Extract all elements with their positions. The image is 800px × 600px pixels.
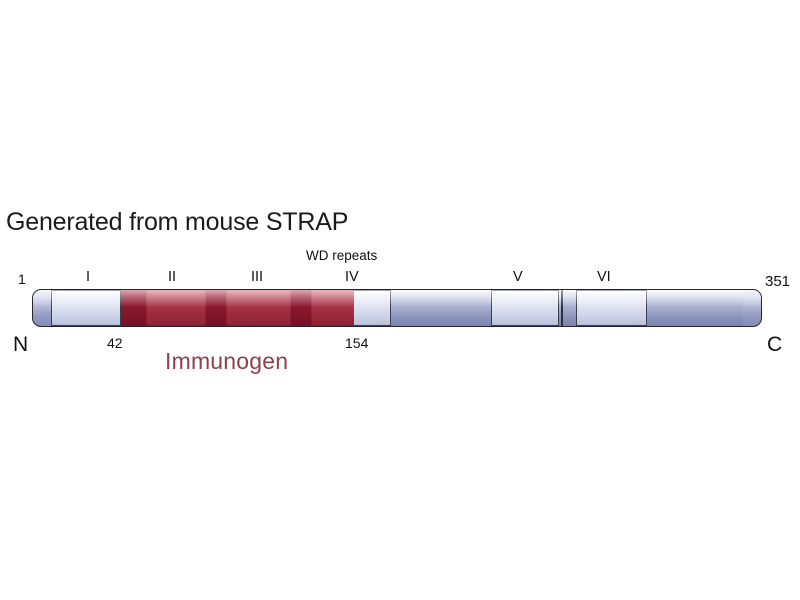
domain-box-v [491,290,559,326]
c-terminus-label: C [767,334,782,355]
residue-end-label: 351 [765,274,790,289]
backbone-right-cap [743,290,761,326]
n-terminus-label: N [13,334,28,355]
domain-label-v: V [513,270,523,285]
domain-label-iv: IV [345,270,359,285]
immunogen-overlap-iv [311,290,354,326]
domain-label-i: I [86,270,90,285]
immunogen-end-label: 154 [345,336,368,350]
domain-box-vi [576,290,647,326]
residue-start-label: 1 [18,272,26,286]
protein-schematic [32,289,762,327]
domain-label-vi: VI [597,270,611,285]
domain-label-ii: II [168,270,176,285]
domain-label-iii: III [251,270,263,285]
domain-divider [561,290,563,326]
immunogen-overlap-ii [146,290,206,326]
immunogen-start-label: 42 [107,336,123,350]
domain-box-i [51,290,121,326]
immunogen-region [121,290,354,326]
page-title: Generated from mouse STRAP [6,208,348,237]
backbone-left-cap [33,290,51,326]
immunogen-overlap-iii [226,290,291,326]
protein-backbone [32,289,762,327]
immunogen-caption: Immunogen [165,348,288,375]
wd-repeats-annotation: WD repeats [306,249,377,263]
figure-canvas: Generated from mouse STRAP 1 I II III WD… [0,0,800,600]
